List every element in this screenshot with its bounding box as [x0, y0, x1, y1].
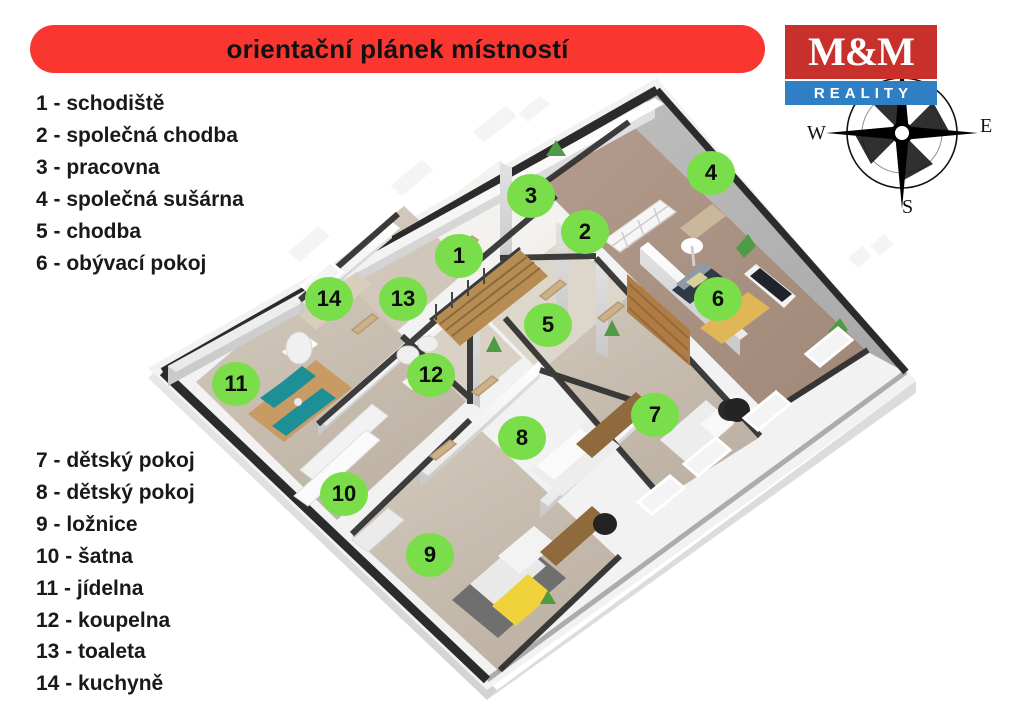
title-banner: orientační plánek místností: [30, 25, 765, 73]
legend-item-4: 4 - společná sušárna: [36, 184, 244, 216]
room-marker-label: 14: [317, 288, 341, 310]
compass-label-east: E: [980, 115, 992, 138]
room-marker-11[interactable]: 11: [212, 362, 260, 406]
legend-item-2: 2 - společná chodba: [36, 120, 244, 152]
logo-mark: M&M: [785, 25, 937, 79]
room-marker-8[interactable]: 8: [498, 416, 546, 460]
compass-label-south: S: [902, 196, 913, 219]
room-marker-7[interactable]: 7: [631, 393, 679, 437]
room-marker-label: 4: [705, 162, 717, 184]
legend-item-6: 6 - obývací pokoj: [36, 248, 244, 280]
room-marker-label: 13: [391, 288, 415, 310]
room-marker-label: 12: [419, 364, 443, 386]
room-marker-label: 7: [649, 404, 661, 426]
legend-item-3: 3 - pracovna: [36, 152, 244, 184]
room-marker-13[interactable]: 13: [379, 277, 427, 321]
room-marker-6[interactable]: 6: [694, 277, 742, 321]
logo-subtitle-bar: REALITY: [785, 81, 937, 105]
logo-subtitle-text: REALITY: [809, 85, 913, 102]
room-marker-2[interactable]: 2: [561, 210, 609, 254]
room-marker-14[interactable]: 14: [305, 277, 353, 321]
room-marker-label: 6: [712, 288, 724, 310]
room-marker-label: 9: [424, 544, 436, 566]
room-marker-label: 11: [224, 373, 247, 395]
legend-item-10: 10 - šatna: [36, 541, 195, 573]
room-marker-9[interactable]: 9: [406, 533, 454, 577]
room-marker-1[interactable]: 1: [435, 234, 483, 278]
room-marker-label: 8: [516, 427, 528, 449]
compass-label-west: W: [807, 122, 826, 145]
legend-item-11: 11 - jídelna: [36, 573, 195, 605]
page-title: orientační plánek místností: [226, 34, 568, 65]
legend-item-7: 7 - dětský pokoj: [36, 445, 195, 477]
room-marker-5[interactable]: 5: [524, 303, 572, 347]
legend-item-9: 9 - ložnice: [36, 509, 195, 541]
legend-item-12: 12 - koupelna: [36, 605, 195, 637]
legend-item-1: 1 - schodiště: [36, 88, 244, 120]
legend-item-14: 14 - kuchyně: [36, 668, 195, 700]
room-marker-label: 2: [579, 221, 591, 243]
mm-reality-logo: M&M REALITY: [785, 25, 937, 105]
room-marker-4[interactable]: 4: [687, 151, 735, 195]
logo-mark-text: M&M: [808, 32, 914, 72]
room-marker-10[interactable]: 10: [320, 472, 368, 516]
legend-item-13: 13 - toaleta: [36, 636, 195, 668]
room-marker-label: 3: [525, 185, 537, 207]
room-marker-label: 5: [542, 314, 554, 336]
legend-item-8: 8 - dětský pokoj: [36, 477, 195, 509]
room-marker-3[interactable]: 3: [507, 174, 555, 218]
legend-item-5: 5 - chodba: [36, 216, 244, 248]
room-marker-12[interactable]: 12: [407, 353, 455, 397]
legend-top: 1 - schodiště 2 - společná chodba 3 - pr…: [36, 88, 244, 279]
legend-bottom: 7 - dětský pokoj 8 - dětský pokoj 9 - lo…: [36, 445, 195, 700]
room-marker-label: 10: [332, 483, 356, 505]
room-marker-label: 1: [453, 245, 465, 267]
